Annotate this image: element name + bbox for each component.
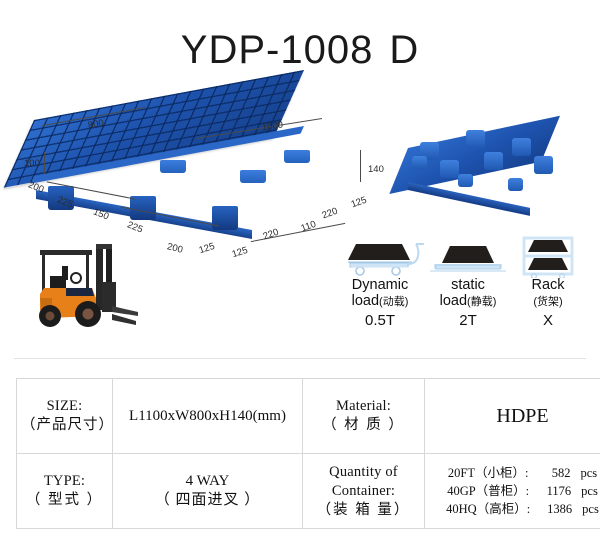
dim-label-140: 140: [368, 164, 384, 175]
container-qty-row: 20FT（小柜）:582pcs: [429, 464, 600, 482]
pallet-leg: [440, 160, 459, 178]
dynamic-load-label-cn: (动载): [379, 296, 408, 308]
product-spec-sheet: YDP-1008D 800 1000 100 140 200 225 150 2…: [0, 0, 600, 539]
dynamic-load-label-line1: Dynamic: [352, 277, 408, 293]
container-qty-40hq: 1386: [530, 500, 572, 518]
cell-material-label: Material: （ 材 质 ）: [303, 379, 425, 454]
load-capacity-group: Dynamic load(动载) 0.5T static load(静载) 2T: [334, 236, 586, 342]
container-label-en2: Container:: [332, 483, 395, 499]
pallet-foot: [284, 150, 310, 163]
cell-container-label: Quantity of Container: （装 箱 量）: [303, 454, 425, 529]
page-title: YDP-1008D: [0, 28, 600, 73]
rack-load-block: Rack (货架) X: [510, 236, 586, 329]
static-load-label: static load(静载): [426, 278, 510, 310]
type-label-en: TYPE:: [44, 473, 85, 489]
dynamic-load-block: Dynamic load(动载) 0.5T: [334, 236, 426, 329]
container-type-20ft: 20FT（小柜）:: [448, 466, 529, 480]
type-value-en: 4 WAY: [186, 473, 230, 489]
container-unit-20ft: pcs: [580, 466, 597, 480]
dim-label-220-lower: 220: [262, 227, 281, 243]
pallet-isometric-view: [34, 120, 334, 225]
pallet-leg: [534, 156, 553, 174]
dynamic-load-icon: [334, 236, 426, 278]
static-load-label-line1: static: [451, 277, 485, 293]
rack-load-label-cn: (货架): [533, 296, 562, 308]
pallet-foot: [240, 170, 266, 183]
dynamic-load-value: 0.5T: [334, 312, 426, 329]
container-label-cn: （装 箱 量）: [307, 501, 420, 520]
cell-size-label: SIZE: （产品尺寸）: [17, 379, 113, 454]
container-unit-40gp: pcs: [581, 484, 598, 498]
static-load-block: static load(静载) 2T: [426, 236, 510, 329]
model-number: YDP-1008: [181, 28, 374, 72]
forklift-image: [26, 236, 142, 340]
cell-type-label: TYPE: （ 型式 ）: [17, 454, 113, 529]
pallet-bottom-deck: [389, 116, 560, 194]
material-label-en: Material:: [336, 398, 391, 414]
pallet-bottom-view: [408, 122, 578, 214]
container-type-40hq: 40HQ（高柜）:: [446, 502, 530, 516]
cell-size-value: L1100xW800xH140(mm): [113, 379, 303, 454]
container-qty-row: 40HQ（高柜）:1386pcs: [429, 500, 600, 518]
pallet-leg: [508, 178, 523, 191]
table-row: SIZE: （产品尺寸） L1100xW800xH140(mm) Materia…: [17, 379, 600, 454]
container-unit-40hq: pcs: [582, 502, 599, 516]
dynamic-load-label: Dynamic load(动载): [334, 278, 426, 310]
size-label-cn: （产品尺寸）: [21, 416, 108, 435]
material-label-cn: （ 材 质 ）: [307, 416, 420, 435]
pallet-leg: [484, 152, 503, 170]
type-value-cn: （ 四面进叉 ）: [117, 491, 298, 510]
container-qty-40gp: 1176: [529, 482, 571, 500]
dim-label-100: 100: [24, 158, 40, 169]
pallet-leg: [458, 174, 473, 187]
dynamic-load-label-line2: load: [352, 293, 379, 309]
static-load-label-line2: load: [440, 293, 467, 309]
rack-load-icon: [510, 236, 586, 278]
container-qty-20ft: 582: [528, 464, 570, 482]
dim-label-200-bottom: 200: [166, 241, 184, 256]
rack-load-label: Rack (货架): [510, 278, 586, 310]
static-load-value: 2T: [426, 312, 510, 329]
dim-line-140: [360, 150, 361, 182]
dim-line-100: [44, 152, 45, 174]
cell-container-quantities: 20FT（小柜）:582pcs 40GP（普柜）:1176pcs 40HQ（高柜…: [425, 454, 600, 529]
pallet-leg: [412, 156, 427, 169]
pallet-foot: [212, 206, 238, 230]
pallet-foot: [160, 160, 186, 173]
dim-label-125-side: 125: [350, 195, 369, 211]
section-divider: [14, 358, 586, 359]
static-load-icon: [426, 236, 510, 278]
container-qty-row: 40GP（普柜）:1176pcs: [429, 482, 600, 500]
dim-label-125-left-lower: 125: [198, 241, 216, 256]
cell-type-value: 4 WAY （ 四面进叉 ）: [113, 454, 303, 529]
rack-load-label-line1: Rack: [531, 277, 564, 293]
dim-label-125-bottom: 125: [231, 245, 249, 260]
rack-load-value: X: [510, 312, 586, 329]
pallet-leg: [512, 138, 531, 156]
cell-material-value: HDPE: [425, 379, 600, 454]
size-label-en: SIZE:: [47, 398, 83, 414]
specification-table: SIZE: （产品尺寸） L1100xW800xH140(mm) Materia…: [16, 378, 600, 529]
pallet-leg: [466, 130, 485, 148]
type-label-cn: （ 型式 ）: [21, 491, 108, 510]
static-load-label-cn: (静载): [467, 296, 496, 308]
container-type-40gp: 40GP（普柜）:: [447, 484, 529, 498]
table-row: TYPE: （ 型式 ） 4 WAY （ 四面进叉 ） Quantity of …: [17, 454, 600, 529]
container-label-en1: Quantity of: [329, 464, 398, 480]
model-variant: D: [389, 28, 419, 72]
